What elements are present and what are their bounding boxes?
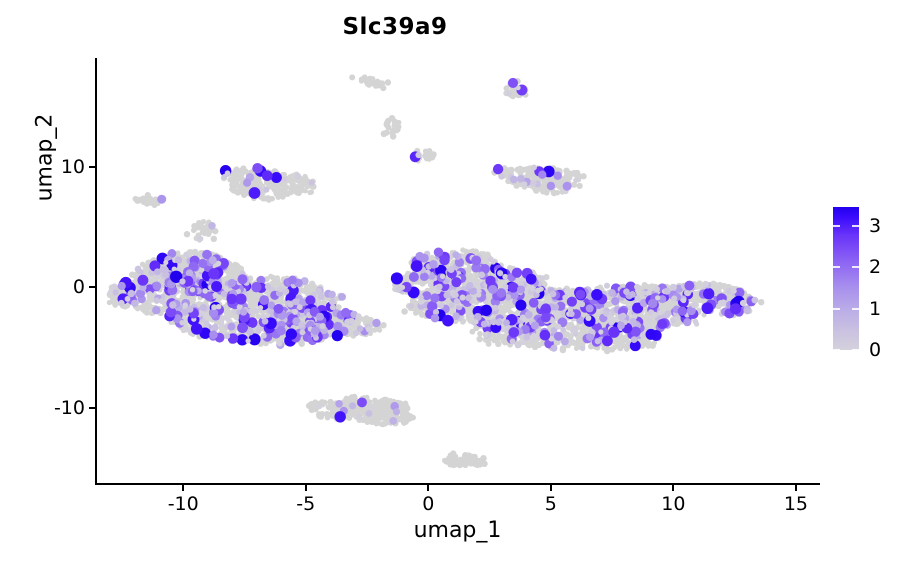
scatter-point — [499, 334, 505, 340]
scatter-point — [191, 227, 197, 233]
scatter-point — [577, 183, 583, 189]
scatter-point — [141, 199, 147, 205]
scatter-point — [506, 168, 512, 174]
scatter-point — [276, 183, 282, 189]
scatter-point — [372, 415, 378, 421]
scatter-point — [211, 236, 217, 242]
scatter-point — [540, 189, 546, 195]
scatter-point — [580, 173, 586, 179]
scatter-point — [646, 341, 652, 347]
scatter-point — [289, 181, 295, 187]
x-axis-spine — [95, 483, 820, 485]
scatter-point — [301, 288, 307, 294]
scatter-point — [231, 182, 237, 188]
scatter-point — [716, 284, 722, 290]
scatter-point — [463, 249, 469, 255]
scatter-point — [426, 152, 432, 158]
scatter-point — [112, 302, 118, 308]
scatter-point — [521, 167, 527, 173]
scatter-point — [235, 189, 241, 195]
scatter-point — [380, 322, 386, 328]
scatter-point — [453, 462, 458, 467]
scatter-point — [359, 408, 365, 414]
scatter-point — [338, 293, 346, 301]
scatter-point — [526, 342, 532, 348]
scatter-point — [480, 455, 486, 461]
scatter-point — [390, 133, 396, 139]
scatter-point — [134, 198, 140, 204]
scatter-point — [309, 285, 315, 291]
expressing-points — [108, 78, 759, 425]
scatter-point — [381, 131, 388, 138]
scatter-point — [649, 283, 654, 288]
scatter-plot-area — [95, 58, 818, 483]
scatter-point — [145, 194, 151, 200]
scatter-point — [529, 171, 535, 177]
scatter-point — [468, 318, 473, 323]
scatter-point — [624, 346, 629, 351]
scatter-point — [184, 231, 190, 237]
page-title: Slc39a9 — [0, 14, 790, 40]
scatter-point — [349, 74, 355, 80]
scatter-point — [318, 414, 324, 420]
scatter-point — [380, 85, 386, 91]
scatter-point — [578, 331, 583, 336]
scatter-point — [659, 303, 665, 309]
scatter-point — [385, 79, 391, 85]
scatter-point — [348, 396, 354, 402]
scatter-point — [289, 173, 295, 179]
scatter-point — [477, 462, 483, 468]
scatter-point — [219, 321, 225, 327]
scatter-point — [228, 323, 236, 331]
scatter-point — [477, 331, 483, 337]
scatter-point — [758, 299, 764, 305]
scatter-point — [482, 254, 488, 260]
scatter-point — [491, 338, 496, 343]
scatter-point — [469, 461, 474, 466]
scatter-point — [450, 453, 456, 459]
scatter-point — [572, 171, 578, 177]
scatter-points-svg — [95, 58, 818, 483]
scatter-point — [514, 167, 520, 173]
scatter-point — [309, 401, 315, 407]
scatter-point — [560, 347, 567, 354]
scatter-point — [609, 346, 615, 352]
scatter-point — [468, 273, 474, 279]
scatter-point — [201, 219, 206, 224]
scatter-point — [316, 288, 323, 295]
scatter-point — [617, 342, 624, 349]
scatter-point — [362, 74, 368, 80]
umap-feature-plot: Slc39a9 -10-5051015 -10010 umap_1 umap_2… — [0, 0, 911, 562]
scatter-point — [652, 340, 657, 345]
scatter-point — [413, 310, 419, 316]
scatter-point — [145, 305, 151, 311]
scatter-point — [401, 308, 408, 315]
scatter-point — [275, 275, 280, 280]
scatter-point — [403, 411, 409, 417]
scatter-point — [383, 398, 389, 404]
scatter-point — [351, 410, 357, 416]
scatter-point — [146, 200, 151, 205]
scatter-point — [230, 176, 236, 182]
scatter-point — [327, 399, 333, 405]
scatter-point — [378, 407, 385, 414]
scatter-point — [392, 123, 398, 129]
scatter-point — [302, 176, 307, 181]
scatter-point — [200, 304, 207, 311]
scatter-point — [292, 188, 298, 194]
scatter-point — [324, 411, 330, 417]
scatter-point — [269, 196, 275, 202]
scatter-point — [298, 180, 303, 185]
scatter-point — [298, 187, 304, 193]
scatter-point — [476, 336, 483, 343]
scatter-point — [299, 341, 304, 346]
scatter-point — [557, 184, 563, 190]
scatter-point — [463, 453, 468, 458]
scatter-point — [367, 78, 373, 84]
scatter-point — [473, 274, 479, 280]
scatter-point — [138, 305, 144, 311]
scatter-point — [309, 189, 315, 195]
scatter-point — [226, 274, 232, 280]
scatter-point — [110, 295, 117, 302]
scatter-point — [239, 168, 245, 174]
scatter-point — [580, 325, 586, 331]
scatter-point — [384, 123, 390, 129]
scatter-point — [279, 188, 284, 193]
